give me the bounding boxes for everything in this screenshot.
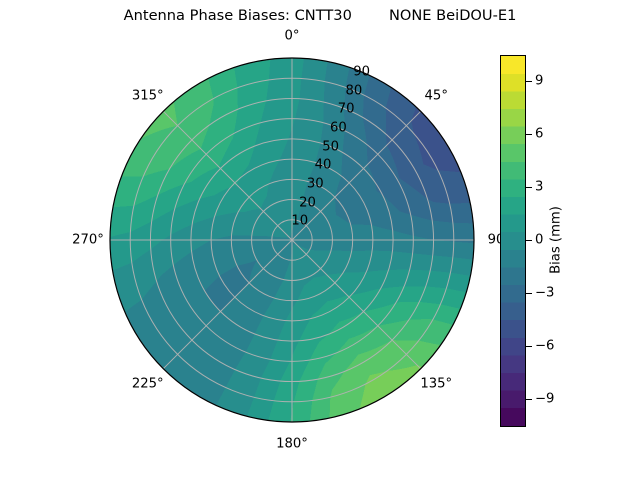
colorbar-tick-2 [526, 187, 532, 188]
theta-tick-label-315: 315° [132, 88, 164, 103]
theta-tick-label-0: 0° [285, 29, 300, 44]
colorbar-tick-label-6: −9 [535, 391, 554, 406]
page-title: Antenna Phase Biases: CNTT30 NONE BeiDOU… [0, 7, 640, 24]
radial-tick-label-30: 30 [307, 176, 324, 191]
colorbar-tick-1 [526, 134, 532, 135]
colorbar-tick-label-2: 3 [535, 180, 543, 195]
radial-tick-label-40: 40 [315, 158, 332, 173]
radial-tick-label-60: 60 [330, 120, 347, 135]
colorbar-tick-0 [526, 81, 532, 82]
figure-canvas: Antenna Phase Biases: CNTT30 NONE BeiDOU… [0, 0, 640, 480]
radial-tick-label-90: 90 [353, 64, 370, 79]
theta-tick-label-180: 180° [276, 437, 308, 452]
colorbar-axis-label: Bias (mm) [549, 206, 564, 274]
colorbar-tick-6 [526, 399, 532, 400]
theta-tick-label-135: 135° [420, 377, 452, 392]
colorbar-tick-label-1: 6 [535, 127, 543, 142]
colorbar [500, 55, 526, 427]
colorbar-tick-5 [526, 346, 532, 347]
colorbar-tick-label-5: −6 [535, 338, 554, 353]
theta-tick-label-225: 225° [132, 377, 164, 392]
colorbar-tick-4 [526, 293, 532, 294]
theta-tick-label-270: 270° [72, 233, 104, 248]
colorbar-tick-3 [526, 240, 532, 241]
radial-tick-label-70: 70 [338, 102, 355, 117]
radial-tick-label-20: 20 [299, 195, 316, 210]
colorbar-tick-label-4: −3 [535, 285, 554, 300]
radial-tick-label-80: 80 [346, 83, 363, 98]
radial-tick-label-50: 50 [322, 139, 339, 154]
colorbar-tick-label-0: 9 [535, 74, 543, 89]
colorbar-tick-label-3: 0 [535, 233, 543, 248]
polar-plot [106, 54, 478, 426]
theta-tick-label-45: 45° [425, 88, 448, 103]
radial-tick-label-10: 10 [291, 214, 308, 229]
